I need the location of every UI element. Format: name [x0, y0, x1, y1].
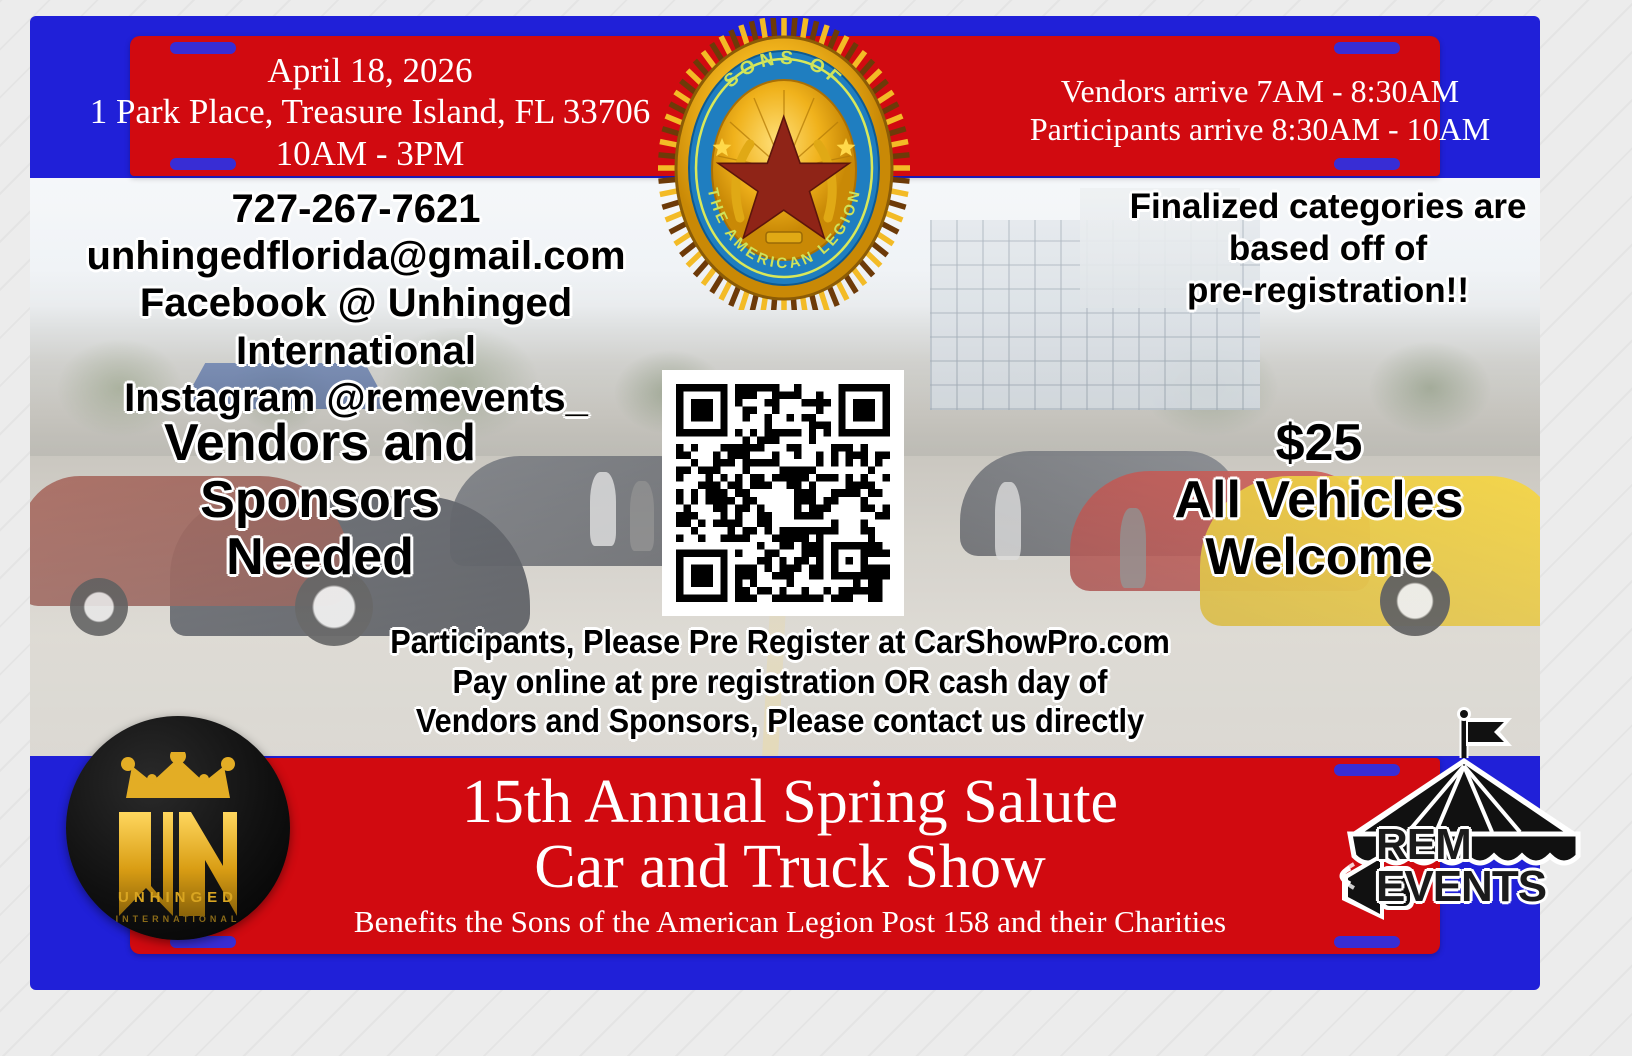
vendors-arrival-time: Vendors arrive 7AM - 8:30AM	[960, 72, 1560, 110]
registration-line3: Vendors and Sponsors, Please contact us …	[362, 701, 1199, 741]
event-title-line1: 15th Annual Spring Salute	[300, 770, 1280, 835]
legion-emblem-svg: SONS OF THE AMERICAN LEGION	[648, 18, 920, 310]
sons-of-american-legion-emblem: SONS OF THE AMERICAN LEGION	[648, 18, 920, 310]
unhinged-logo-sub: INTERNATIONAL	[66, 914, 290, 924]
event-title-line2: Car and Truck Show	[300, 835, 1280, 900]
registration-line2: Pay online at pre registration OR cash d…	[362, 662, 1199, 702]
banner-slot-top-right	[1334, 42, 1400, 54]
price-line2: All Vehicles	[1154, 472, 1484, 529]
vendors-needed-line3: Needed	[150, 529, 490, 586]
vendors-needed-line1: Vendors and	[150, 415, 490, 472]
contact-email: unhingedflorida@gmail.com	[46, 233, 666, 280]
rem-events-logo: REM EVENTS	[1336, 706, 1604, 926]
event-subtitle: Benefits the Sons of the American Legion…	[300, 906, 1280, 939]
rem-events-line2: EVENTS	[1376, 866, 1606, 908]
rem-events-line1: REM	[1376, 824, 1606, 866]
contact-facebook: Facebook @ Unhinged International	[46, 280, 666, 374]
categories-note: Finalized categories are based off of pr…	[1098, 186, 1558, 312]
vendors-sponsors-needed: Vendors and Sponsors Needed	[150, 415, 490, 587]
registration-line1: Participants, Please Pre Register at Car…	[362, 622, 1199, 662]
contact-info-block: 727-267-7621 unhingedflorida@gmail.com F…	[46, 186, 666, 422]
categories-note-line2: based off of	[1098, 228, 1558, 270]
price-line3: Welcome	[1154, 529, 1484, 586]
contact-phone: 727-267-7621	[46, 186, 666, 233]
qr-code-canvas[interactable]	[676, 384, 890, 602]
unhinged-international-logo: UNHINGED INTERNATIONAL	[66, 716, 290, 940]
event-address: 1 Park Place, Treasure Island, FL 33706	[60, 91, 680, 132]
event-hours: 10AM - 3PM	[60, 133, 680, 174]
event-title-block: 15th Annual Spring Salute Car and Truck …	[300, 770, 1280, 939]
flyer-root: April 18, 2026 1 Park Place, Treasure Is…	[0, 0, 1632, 1056]
arrival-times-right: Vendors arrive 7AM - 8:30AM Participants…	[960, 72, 1560, 149]
rem-events-wordmark: REM EVENTS	[1376, 824, 1606, 908]
price-amount: $25	[1154, 415, 1484, 472]
unhinged-logo-name: UNHINGED	[66, 889, 290, 906]
registration-instructions: Participants, Please Pre Register at Car…	[362, 622, 1199, 741]
bottom-banner-slot-bottom-right	[1334, 936, 1400, 948]
categories-note-line3: pre-registration!!	[1098, 270, 1558, 312]
qr-code[interactable]	[662, 370, 904, 616]
crown-icon	[118, 752, 238, 804]
event-date: April 18, 2026	[60, 50, 680, 91]
price-block: $25 All Vehicles Welcome	[1154, 415, 1484, 587]
vendors-needed-line2: Sponsors	[150, 472, 490, 529]
participants-arrival-time: Participants arrive 8:30AM - 10AM	[960, 110, 1560, 148]
event-details-left: April 18, 2026 1 Park Place, Treasure Is…	[60, 50, 680, 174]
banner-slot-bottom-right	[1334, 158, 1400, 170]
categories-note-line1: Finalized categories are	[1098, 186, 1558, 228]
